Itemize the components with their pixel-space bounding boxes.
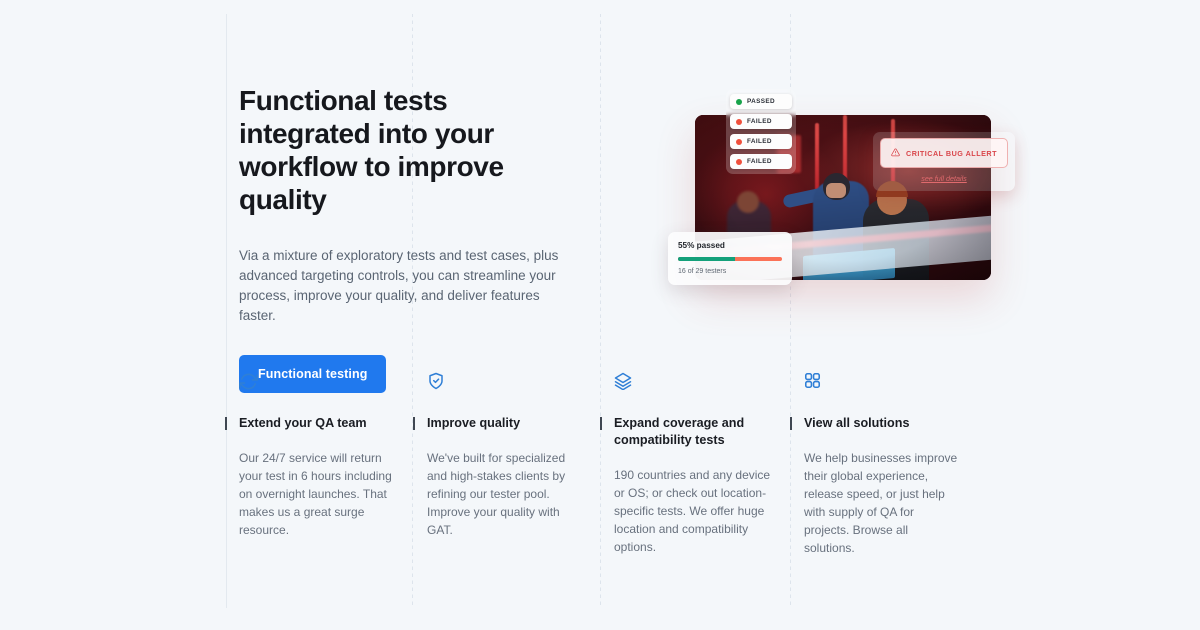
feature-column-improve-quality: Improve quality We've built for speciali…	[427, 372, 585, 539]
feature-body: We help businesses improve their global …	[804, 449, 962, 557]
feature-body: We've built for specialized and high-sta…	[427, 449, 585, 539]
status-badge: FAILED	[730, 154, 792, 169]
feature-body: Our 24/7 service will return your test i…	[239, 449, 394, 539]
status-badge: FAILED	[730, 114, 792, 129]
hero-media: PASSED FAILED FAILED FAILED	[666, 80, 1026, 325]
status-label: FAILED	[747, 158, 772, 165]
feature-title: Improve quality	[427, 415, 585, 432]
feature-column-expand-coverage: Expand coverage and compatibility tests …	[614, 372, 772, 556]
status-label: FAILED	[747, 138, 772, 145]
tester-count-note: 16 of 29 testers	[678, 268, 782, 275]
page-title: Functional tests integrated into your wo…	[239, 84, 579, 216]
feature-title: View all solutions	[804, 415, 962, 432]
see-full-details-link[interactable]: see full details	[880, 174, 1008, 183]
landing-page: Functional tests integrated into your wo…	[0, 0, 1200, 630]
critical-bug-alert-card: CRITICAL BUG ALLERT see full details	[873, 132, 1015, 191]
hero-subtitle: Via a mixture of exploratory tests and t…	[239, 246, 564, 326]
test-status-list: PASSED FAILED FAILED FAILED	[726, 89, 796, 174]
status-dot-icon	[736, 159, 742, 165]
feature-body: 190 countries and any device or OS; or c…	[614, 466, 772, 556]
status-badge: FAILED	[730, 134, 792, 149]
status-dot-icon	[736, 139, 742, 145]
pass-rate-card: 55% passed 16 of 29 testers	[668, 232, 792, 285]
shield-check-icon	[427, 372, 585, 394]
layers-stack-icon	[614, 372, 772, 394]
status-label: FAILED	[747, 118, 772, 125]
hero-text-block: Functional tests integrated into your wo…	[239, 84, 579, 393]
feature-column-view-all-solutions: View all solutions We help businesses im…	[804, 372, 962, 557]
column-rule-3	[600, 14, 601, 608]
feature-column-extend-qa-team: Extend your QA team Our 24/7 service wil…	[239, 372, 394, 539]
feature-heading-wrap: Expand coverage and compatibility tests	[614, 415, 772, 449]
status-label: PASSED	[747, 98, 775, 105]
feature-title: Extend your QA team	[239, 415, 394, 432]
pass-rate-fill	[678, 257, 735, 261]
pass-rate-title: 55% passed	[678, 241, 782, 250]
column-rule-1	[226, 14, 227, 608]
feature-title: Expand coverage and compatibility tests	[614, 415, 772, 449]
alert-title: CRITICAL BUG ALLERT	[906, 149, 997, 158]
grid-squares-icon	[804, 372, 962, 394]
refresh-sync-icon	[239, 372, 394, 394]
alert-bar: CRITICAL BUG ALLERT	[880, 138, 1008, 168]
feature-heading-wrap: View all solutions	[804, 415, 962, 432]
status-dot-icon	[736, 99, 742, 105]
warning-triangle-icon	[891, 144, 900, 162]
status-badge: PASSED	[730, 94, 792, 109]
feature-heading-wrap: Improve quality	[427, 415, 585, 432]
pass-rate-bar	[678, 257, 782, 261]
status-dot-icon	[736, 119, 742, 125]
feature-heading-wrap: Extend your QA team	[239, 415, 394, 432]
